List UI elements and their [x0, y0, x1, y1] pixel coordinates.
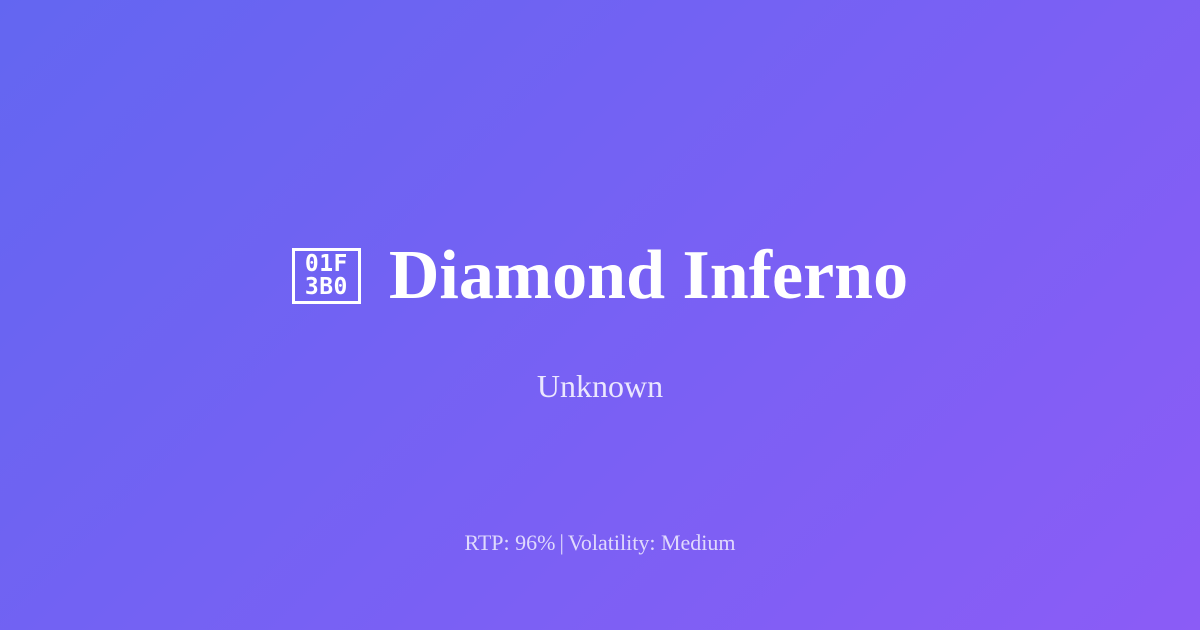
rtp-stat: RTP: 96%	[464, 530, 555, 555]
title-row: 01F 3B0 Diamond Inferno	[0, 232, 1200, 320]
page-title: Diamond Inferno	[389, 232, 908, 320]
tofu-codepoint-row-bottom: 3B0	[305, 276, 348, 299]
stats-separator: |	[555, 530, 567, 555]
game-stats: RTP: 96%|Volatility: Medium	[0, 528, 1200, 558]
tofu-codepoint-row-top: 01F	[305, 253, 348, 276]
game-provider: Unknown	[0, 364, 1200, 408]
game-share-card: 01F 3B0 Diamond Inferno Unknown RTP: 96%…	[0, 0, 1200, 630]
volatility-stat: Volatility: Medium	[568, 530, 736, 555]
slot-machine-icon: 01F 3B0	[292, 248, 361, 304]
